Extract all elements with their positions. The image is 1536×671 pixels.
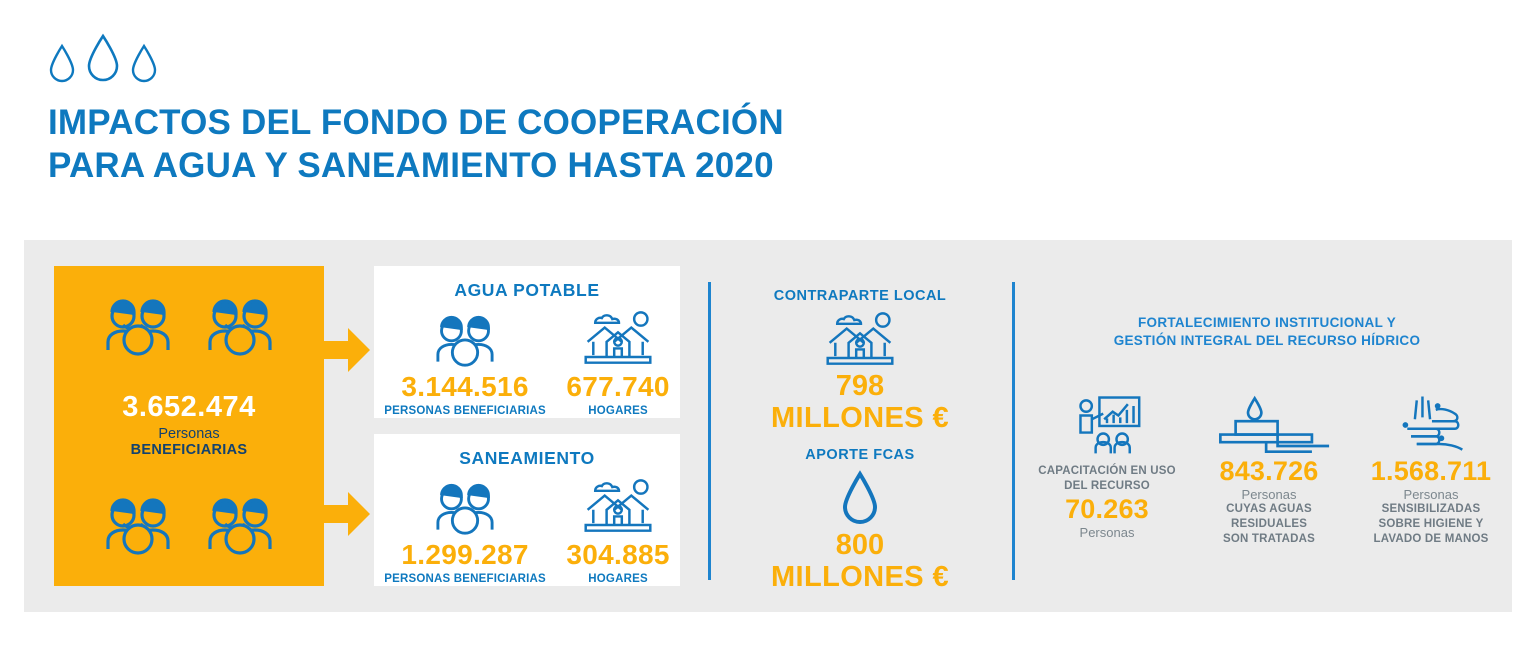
- funding-amount: 798: [740, 370, 980, 402]
- water-drop-icon: [130, 43, 158, 88]
- card-value: 1.299.287: [401, 539, 528, 571]
- card-label: HOGARES: [588, 405, 648, 417]
- institutional-personas: Personas: [1080, 525, 1135, 540]
- water-drop-icon: [86, 33, 120, 88]
- two-people-with-water-icon: [99, 294, 177, 361]
- people-icon-row-bottom: [99, 493, 279, 560]
- funding-aporte-fcas: APORTE FCAS 800 MILLONES €: [740, 447, 980, 594]
- infographic-page: IMPACTOS DEL FONDO DE COOPERACIÓN PARA A…: [0, 0, 1536, 671]
- two-people-with-water-icon: [201, 493, 279, 560]
- card-value: 304.885: [566, 539, 669, 571]
- houses-with-sun-icon: [740, 308, 980, 370]
- card-value: 3.144.516: [401, 371, 528, 403]
- beneficiaries-panel: 3.652.474 Personas BENEFICIARIAS: [54, 266, 324, 586]
- funding-amount: 800: [740, 529, 980, 561]
- card-title: SANEAMIENTO: [459, 448, 595, 469]
- beneficiaries-label-personas: Personas: [122, 426, 256, 442]
- beneficiaries-value: 3.652.474: [122, 391, 256, 424]
- institutional-value: 1.568.711: [1371, 456, 1491, 487]
- water-drop-icon: [740, 467, 980, 529]
- water-treatment-plant-icon: [1207, 390, 1331, 456]
- institutional-item-capacitacion: CAPACITACIÓN EN USO DEL RECURSO 70.263 P…: [1026, 390, 1188, 547]
- beneficiaries-figure: 3.652.474 Personas BENEFICIARIAS: [122, 391, 256, 458]
- two-people-with-water-icon: [201, 294, 279, 361]
- funding-contraparte-local: CONTRAPARTE LOCAL 798 MILLONES €: [740, 288, 980, 435]
- divider-right: [1012, 282, 1015, 580]
- institutional-value: 70.263: [1065, 494, 1149, 525]
- header: IMPACTOS DEL FONDO DE COOPERACIÓN PARA A…: [48, 36, 784, 187]
- training-presentation-icon: [1071, 390, 1143, 456]
- card-column-personas: 1.299.287 PERSONAS BENEFICIARIAS: [384, 473, 546, 585]
- funding-title: CONTRAPARTE LOCAL: [740, 288, 980, 304]
- funding-unit: MILLONES €: [740, 402, 980, 434]
- institutional-item-aguas-residuales: 843.726 Personas CUYAS AGUAS RESIDUALES …: [1188, 390, 1350, 547]
- beneficiaries-label-beneficiarias: BENEFICIARIAS: [122, 442, 256, 458]
- card-label: PERSONAS BENEFICIARIAS: [384, 405, 546, 417]
- card-value: 677.740: [566, 371, 669, 403]
- card-column-hogares: 677.740 HOGARES: [566, 305, 669, 417]
- card-column-personas: 3.144.516 PERSONAS BENEFICIARIAS: [384, 305, 546, 417]
- institutional-title: FORTALECIMIENTO INSTITUCIONAL Y GESTIÓN …: [1022, 314, 1512, 350]
- card-saneamiento: SANEAMIENTO: [374, 434, 680, 586]
- arrow-right-icon: [322, 328, 370, 372]
- water-drop-icon: [48, 43, 76, 88]
- divider-left: [708, 282, 711, 580]
- institutional-label-below: CUYAS AGUAS RESIDUALES SON TRATADAS: [1188, 502, 1350, 547]
- card-agua-potable: AGUA POTABLE: [374, 266, 680, 418]
- institutional-item-higiene: 1.568.711 Personas SENSIBILIZADAS SOBRE …: [1350, 390, 1512, 547]
- page-title: IMPACTOS DEL FONDO DE COOPERACIÓN PARA A…: [48, 102, 784, 187]
- two-people-with-water-icon: [429, 305, 501, 367]
- houses-with-sun-icon: [580, 473, 656, 535]
- houses-with-sun-icon: [580, 305, 656, 367]
- card-label: HOGARES: [588, 573, 648, 585]
- card-title: AGUA POTABLE: [454, 280, 599, 301]
- two-people-with-water-icon: [99, 493, 177, 560]
- institutional-personas: Personas: [1404, 487, 1459, 502]
- institutional-label-below: SENSIBILIZADAS SOBRE HIGIENE Y LAVADO DE…: [1373, 502, 1488, 547]
- handwashing-icon: [1394, 390, 1468, 456]
- water-drops-decoration: [48, 36, 784, 88]
- funding-unit: MILLONES €: [740, 561, 980, 593]
- institutional-label-above: CAPACITACIÓN EN USO DEL RECURSO: [1038, 464, 1176, 494]
- funding-title: APORTE FCAS: [740, 447, 980, 463]
- two-people-with-water-icon: [429, 473, 501, 535]
- institutional-items: CAPACITACIÓN EN USO DEL RECURSO 70.263 P…: [1026, 390, 1512, 547]
- institutional-value: 843.726: [1220, 456, 1319, 487]
- arrow-right-icon: [322, 492, 370, 536]
- card-label: PERSONAS BENEFICIARIAS: [384, 573, 546, 585]
- people-icon-row-top: [99, 294, 279, 361]
- institutional-personas: Personas: [1242, 487, 1297, 502]
- card-column-hogares: 304.885 HOGARES: [566, 473, 669, 585]
